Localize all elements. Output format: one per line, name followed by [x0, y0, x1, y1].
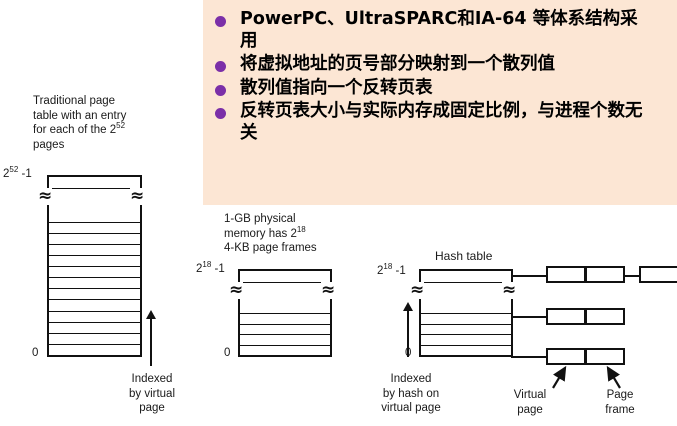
left-index-arrow-caption: Indexed by virtual page — [110, 372, 194, 416]
hash-table — [419, 269, 513, 357]
middle-table-bottom-index-label: 0 — [224, 346, 230, 361]
left-table-break-band — [49, 192, 140, 209]
middle-table-break-squiggle-left: ≈ — [229, 282, 243, 299]
bullet-dot-icon — [215, 108, 226, 119]
table-row-divider — [240, 282, 330, 283]
table-row-divider — [49, 244, 140, 245]
table-row-divider — [49, 188, 140, 189]
left-table-top-index-label: 252 -1 — [3, 167, 32, 182]
chain-cell-virtual-page — [639, 266, 677, 283]
left-table-caption: Traditional page table with an entry for… — [33, 94, 183, 153]
bullet-text: 散列值指向一个反转页表 — [240, 77, 433, 99]
middle-table-top-index-label: 218 -1 — [196, 262, 225, 277]
table-row-divider — [240, 345, 330, 346]
left-index-arrow-head-icon — [146, 310, 156, 319]
chain-cell-virtual-page — [546, 308, 586, 325]
chain-cell-virtual-page — [546, 266, 586, 283]
table-row-divider — [240, 324, 330, 325]
hash-table-break-squiggle-right: ≈ — [502, 282, 516, 299]
bullet-item: PowerPC、UltraSPARC和IA-64 等体系结构采用 — [215, 8, 667, 52]
hash-index-arrow-shaft — [407, 310, 409, 357]
chain-connector — [511, 275, 546, 277]
chain-cell-page-frame — [585, 266, 625, 283]
middle-table-break-band — [240, 286, 330, 303]
left-table-break-squiggle-left: ≈ — [38, 188, 52, 205]
table-row-divider — [49, 344, 140, 345]
slide-canvas: PowerPC、UltraSPARC和IA-64 等体系结构采用 将虚拟地址的页… — [0, 0, 677, 426]
physical-memory-frames-table — [238, 269, 332, 357]
hash-index-arrow-head-icon — [403, 302, 413, 311]
table-row-divider — [421, 334, 511, 335]
table-row-divider — [49, 288, 140, 289]
left-table-bottom-index-label: 0 — [32, 346, 38, 361]
table-row-divider — [421, 282, 511, 283]
hash-table-title: Hash table — [435, 249, 492, 264]
annotation-page-frame-label: Page frame — [590, 388, 650, 417]
table-row-divider — [421, 324, 511, 325]
table-row-divider — [421, 313, 511, 314]
bullet-dot-icon — [215, 85, 226, 96]
hash-table-top-index-label: 218 -1 — [377, 264, 406, 279]
left-index-arrow-shaft — [150, 318, 152, 366]
hash-table-break-squiggle-left: ≈ — [410, 282, 424, 299]
bullet-dot-icon — [215, 61, 226, 72]
bullet-text: 反转页表大小与实际内存成固定比例，与进程个数无关 — [240, 100, 655, 144]
hash-index-arrow-caption: Indexed by hash on virtual page — [366, 372, 456, 416]
middle-table-caption: 1-GB physical memory has 218 4-KB page f… — [224, 212, 354, 256]
chain-connector — [624, 275, 640, 277]
table-row-divider — [49, 333, 140, 334]
bullet-item: 散列值指向一个反转页表 — [215, 77, 667, 99]
chain-cell-page-frame — [585, 308, 625, 325]
table-row-divider — [49, 233, 140, 234]
table-row-divider — [49, 222, 140, 223]
table-row-divider — [49, 322, 140, 323]
middle-table-break-squiggle-right: ≈ — [321, 282, 335, 299]
table-row-divider — [49, 277, 140, 278]
table-row-divider — [49, 255, 140, 256]
table-row-divider — [421, 345, 511, 346]
bullet-panel: PowerPC、UltraSPARC和IA-64 等体系结构采用 将虚拟地址的页… — [203, 0, 677, 205]
table-row-divider — [49, 266, 140, 267]
table-row-divider — [49, 299, 140, 300]
hash-table-break-band — [421, 286, 511, 303]
table-row-divider — [240, 334, 330, 335]
bullet-text: 将虚拟地址的页号部分映射到一个散列值 — [240, 53, 555, 75]
annotation-virtual-page-label: Virtual page — [500, 388, 560, 417]
chain-connector — [511, 316, 546, 318]
bullet-item: 反转页表大小与实际内存成固定比例，与进程个数无关 — [215, 100, 667, 144]
left-table-break-squiggle-right: ≈ — [130, 188, 144, 205]
bullet-item: 将虚拟地址的页号部分映射到一个散列值 — [215, 53, 667, 75]
table-row-divider — [240, 313, 330, 314]
bullet-dot-icon — [215, 16, 226, 27]
table-row-divider — [49, 311, 140, 312]
bullet-text: PowerPC、UltraSPARC和IA-64 等体系结构采用 — [240, 8, 655, 52]
